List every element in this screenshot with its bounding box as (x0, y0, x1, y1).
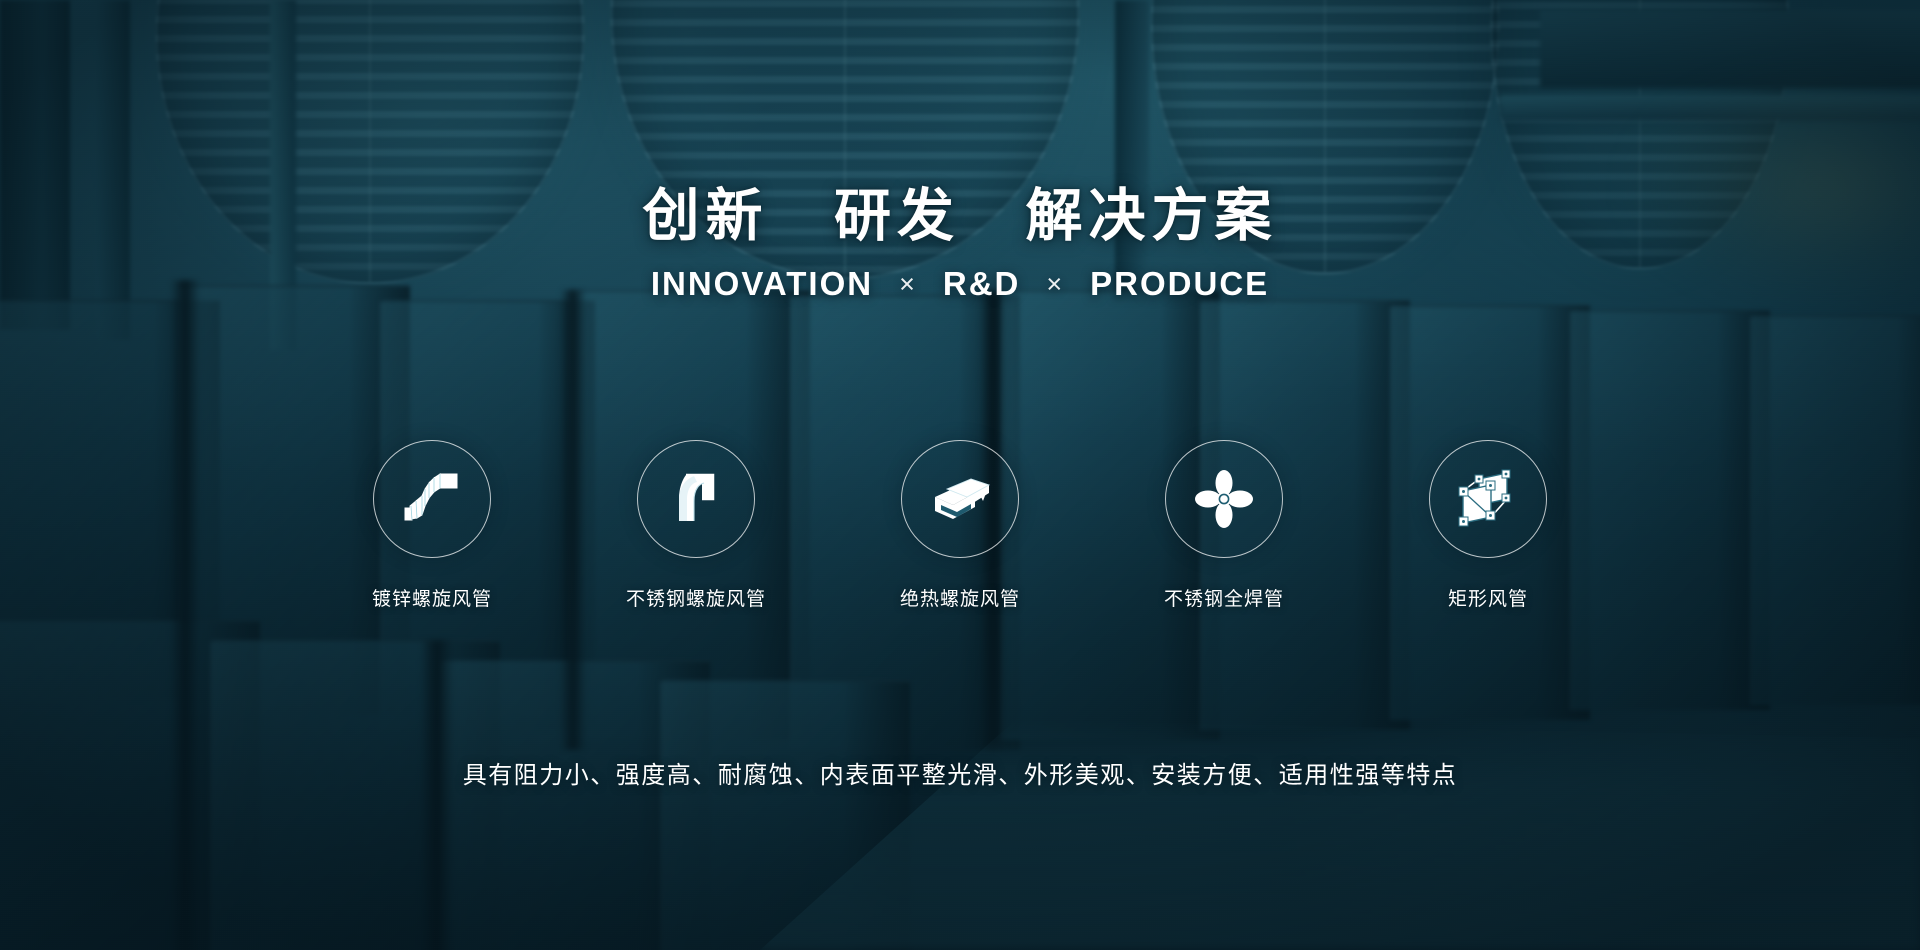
spiral-duct-elbow-icon (401, 468, 463, 530)
product-icon-ring[interactable] (637, 440, 755, 558)
subtitle-part-rnd: R&D (943, 265, 1021, 303)
product-icon-ring[interactable] (1429, 440, 1547, 558)
product-label: 绝热螺旋风管 (900, 584, 1020, 611)
subtitle-part-produce: PRODUCE (1090, 265, 1269, 303)
banner-subtitle: INNOVATION × R&D × PRODUCE (0, 265, 1920, 303)
banner-content: 创新 研发 解决方案 INNOVATION × R&D × PRODUCE (0, 0, 1920, 950)
product-label: 不锈钢全焊管 (1164, 584, 1284, 611)
smooth-duct-elbow-icon (667, 469, 725, 529)
product-item-insulated-duct[interactable]: 绝热螺旋风管 (866, 440, 1054, 611)
product-label: 不锈钢螺旋风管 (626, 584, 766, 611)
product-item-rectangular-duct[interactable]: 矩形风管 (1394, 440, 1582, 611)
product-label: 镀锌螺旋风管 (372, 584, 492, 611)
multiply-separator-icon: × (1046, 269, 1064, 300)
banner-headline: 创新 研发 解决方案 (0, 170, 1920, 252)
product-item-spiral-duct[interactable]: 镀锌螺旋风管 (338, 440, 526, 611)
product-item-welded-pipe[interactable]: 不锈钢全焊管 (1130, 440, 1318, 611)
insulated-duct-icon (927, 471, 993, 527)
rectangular-duct-icon (1457, 469, 1519, 529)
product-icon-ring[interactable] (373, 440, 491, 558)
product-icon-ring[interactable] (1165, 440, 1283, 558)
product-list: 镀锌螺旋风管 不锈钢螺旋风管 (0, 440, 1920, 611)
multiply-separator-icon: × (899, 269, 917, 300)
product-label: 矩形风管 (1448, 584, 1528, 611)
hero-banner: 创新 研发 解决方案 INNOVATION × R&D × PRODUCE (0, 0, 1920, 950)
product-icon-ring[interactable] (901, 440, 1019, 558)
product-item-stainless-spiral[interactable]: 不锈钢螺旋风管 (602, 440, 790, 611)
banner-tagline: 具有阻力小、强度高、耐腐蚀、内表面平整光滑、外形美观、安装方便、适用性强等特点 (0, 755, 1920, 790)
subtitle-part-innovation: INNOVATION (651, 265, 873, 303)
fan-blade-icon (1193, 468, 1255, 530)
